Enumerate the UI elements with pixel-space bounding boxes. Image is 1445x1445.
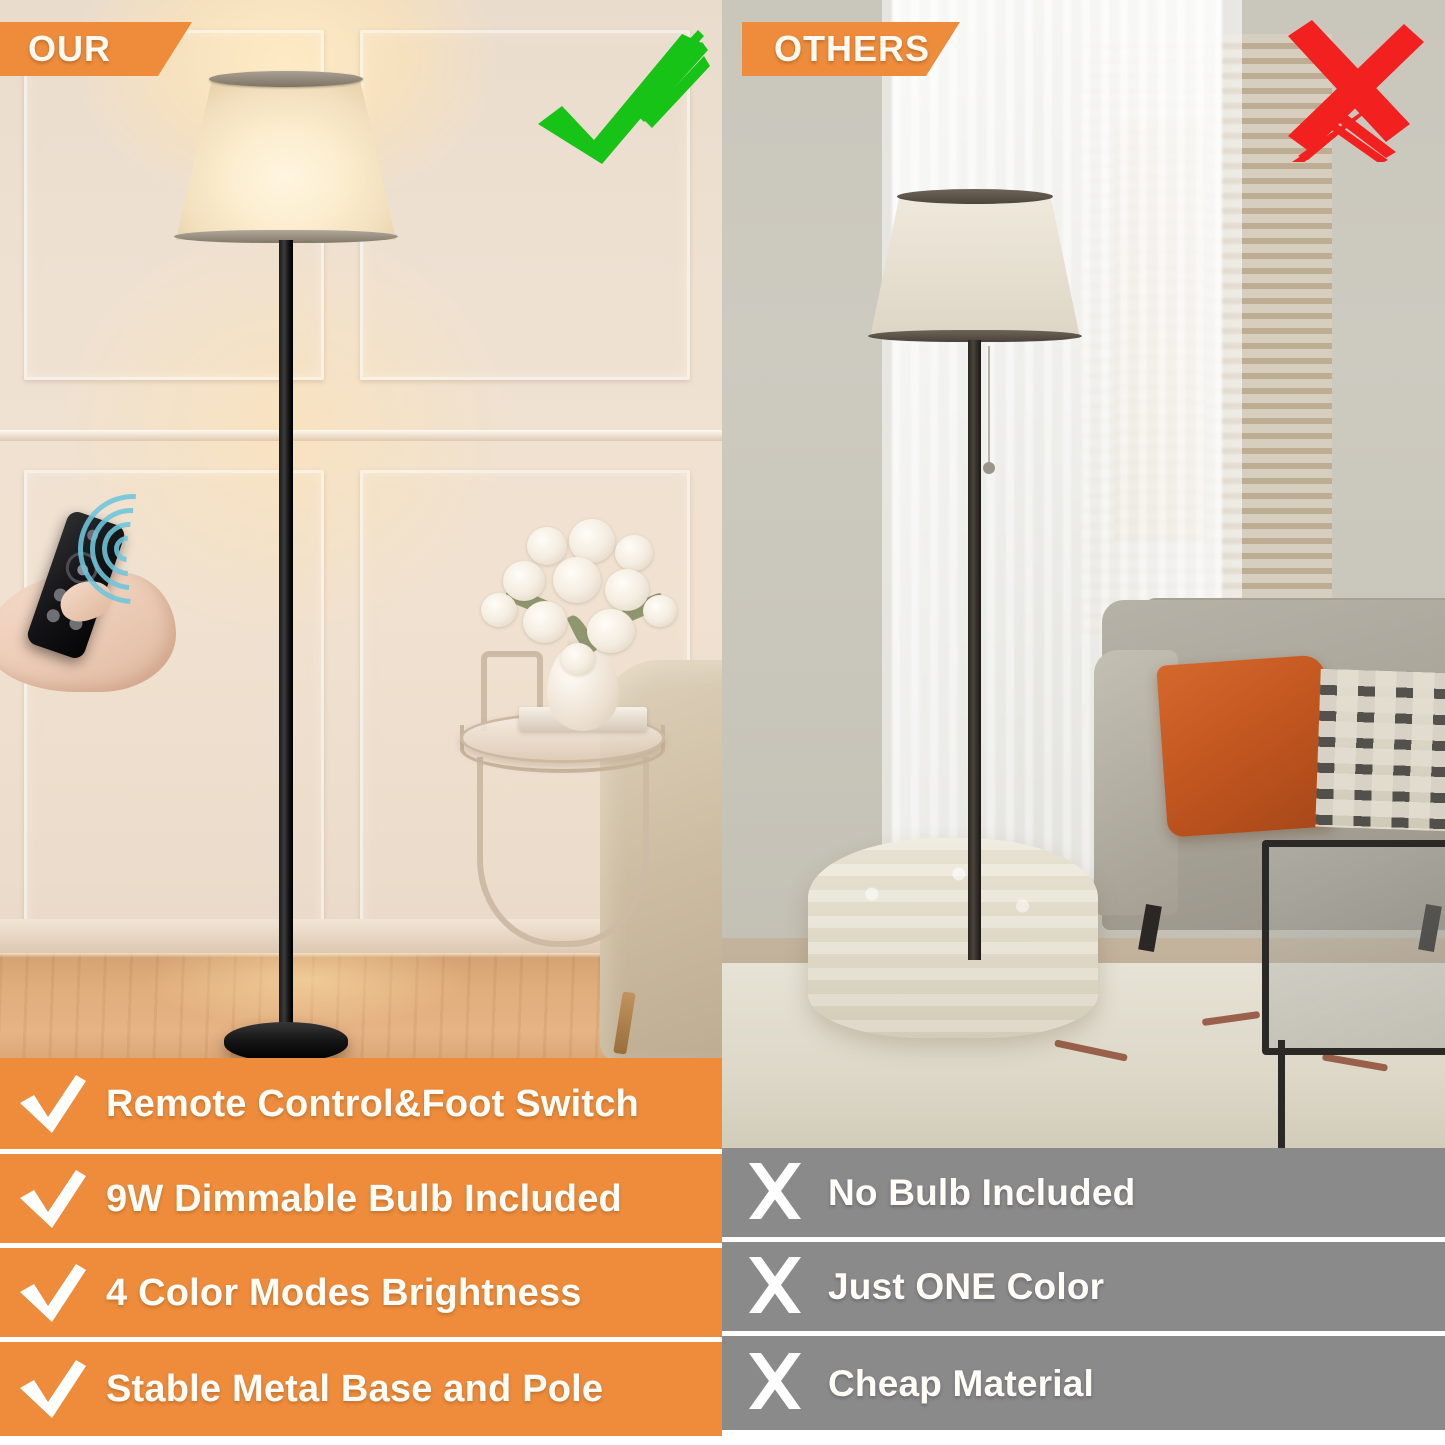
feature-row[interactable]: 9W Dimmable Bulb Included bbox=[0, 1154, 722, 1248]
feature-row[interactable]: No Bulb Included bbox=[722, 1148, 1445, 1242]
pull-chain bbox=[988, 346, 990, 464]
our-feature-list: Remote Control&Foot Switch 9W Dimmable B… bbox=[0, 1058, 722, 1436]
glass-coffee-table bbox=[1262, 840, 1445, 1055]
shade-top-trim bbox=[897, 189, 1053, 204]
cross-icon bbox=[722, 1161, 828, 1225]
orange-pillow bbox=[1156, 654, 1336, 837]
lamp-pole bbox=[279, 240, 293, 1030]
feature-label: No Bulb Included bbox=[828, 1174, 1135, 1211]
feature-row[interactable]: Just ONE Color bbox=[722, 1242, 1445, 1336]
feature-label: 4 Color Modes Brightness bbox=[106, 1274, 582, 1312]
signal-waves-icon bbox=[86, 492, 216, 612]
red-cross-brush-icon bbox=[1268, 12, 1428, 162]
our-banner-label: OUR bbox=[28, 28, 111, 70]
cross-icon bbox=[722, 1255, 828, 1319]
lamp-shade bbox=[176, 78, 396, 240]
shade-top-trim bbox=[209, 71, 363, 87]
feature-row[interactable]: Cheap Material bbox=[722, 1336, 1445, 1430]
check-icon bbox=[0, 1262, 106, 1324]
feature-row[interactable]: Stable Metal Base and Pole bbox=[0, 1342, 722, 1436]
product-comparison-board: OUR OTHERS Remote C bbox=[0, 0, 1445, 1445]
feature-label: Remote Control&Foot Switch bbox=[106, 1085, 639, 1123]
cross-icon bbox=[722, 1351, 828, 1415]
others-banner: OTHERS bbox=[742, 22, 960, 76]
others-floor-lamp bbox=[870, 196, 1080, 956]
feature-label: Cheap Material bbox=[828, 1365, 1094, 1402]
rose-bouquet bbox=[465, 517, 705, 687]
feature-row[interactable]: 4 Color Modes Brightness bbox=[0, 1248, 722, 1342]
glass-side-table bbox=[455, 645, 670, 1035]
check-icon bbox=[0, 1073, 106, 1135]
lamp-pole bbox=[968, 340, 981, 960]
feature-label: Stable Metal Base and Pole bbox=[106, 1370, 603, 1408]
others-banner-label: OTHERS bbox=[774, 28, 930, 70]
check-icon bbox=[0, 1168, 106, 1230]
coffee-table-leg bbox=[1278, 1040, 1285, 1148]
feature-label: 9W Dimmable Bulb Included bbox=[106, 1180, 622, 1218]
patterned-pillow bbox=[1315, 669, 1445, 834]
feature-row[interactable]: Remote Control&Foot Switch bbox=[0, 1058, 722, 1154]
others-feature-list: No Bulb Included Just ONE Color Cheap Ma… bbox=[722, 1148, 1445, 1430]
table-leg bbox=[477, 757, 649, 947]
feature-label: Just ONE Color bbox=[828, 1268, 1104, 1305]
green-check-brush-icon bbox=[532, 28, 712, 168]
check-icon bbox=[0, 1358, 106, 1420]
others-product-photo bbox=[722, 0, 1445, 1148]
lamp-base bbox=[224, 1022, 348, 1058]
lamp-shade bbox=[870, 196, 1080, 338]
